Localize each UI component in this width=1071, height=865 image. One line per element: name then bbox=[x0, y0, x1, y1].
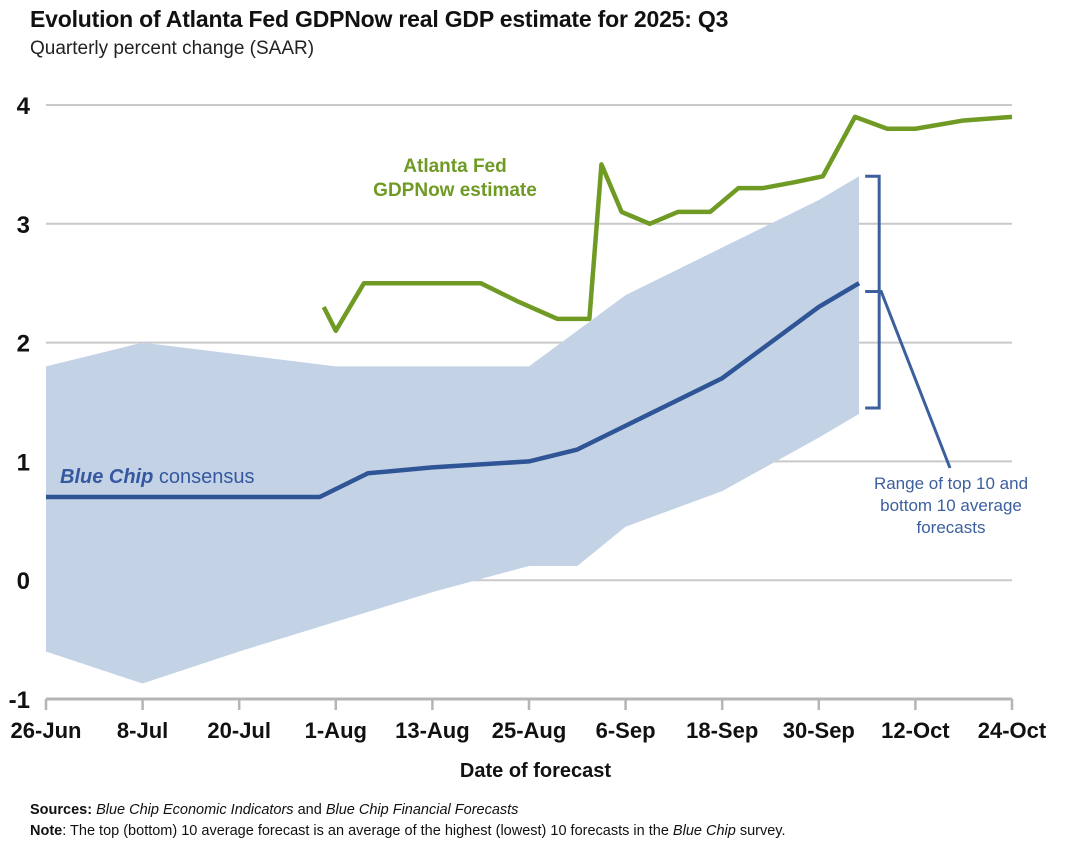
sources-pub-1: Blue Chip Economic Indicators bbox=[96, 802, 293, 818]
sources-line: Sources: Blue Chip Economic Indicators a… bbox=[30, 800, 786, 821]
range-annotation-line1: Range of top 10 and bbox=[846, 473, 1056, 495]
gdpnow-chart: -101234 26-Jun8-Jul20-Jul1-Aug13-Aug25-A… bbox=[0, 0, 1071, 760]
chart-footnotes: Sources: Blue Chip Economic Indicators a… bbox=[30, 800, 786, 842]
y-axis-tick-label: 4 bbox=[17, 93, 31, 120]
x-axis-tick-label: 1-Aug bbox=[305, 718, 367, 743]
consensus-label-italic: Blue Chip bbox=[60, 466, 153, 488]
x-axis-title: Date of forecast bbox=[0, 760, 1071, 783]
y-axis-tick-label: 2 bbox=[17, 331, 30, 358]
x-axis-tick-label: 8-Jul bbox=[117, 718, 168, 743]
range-annotation: Range of top 10 and bottom 10 average fo… bbox=[846, 473, 1056, 539]
range-annotation-line2: bottom 10 average bbox=[846, 495, 1056, 517]
x-axis-tick-label: 26-Jun bbox=[11, 718, 82, 743]
x-axis-tick-label: 6-Sep bbox=[596, 718, 656, 743]
note-label: Note bbox=[30, 823, 62, 839]
forecast-range-band bbox=[46, 176, 859, 683]
x-axis-tick-label: 13-Aug bbox=[395, 718, 470, 743]
range-annotation-line3: forecasts bbox=[846, 517, 1056, 539]
note-part-1: The top (bottom) 10 average forecast is … bbox=[70, 823, 673, 839]
x-axis-labels: 26-Jun8-Jul20-Jul1-Aug13-Aug25-Aug6-Sep1… bbox=[11, 718, 1047, 743]
x-axis-tick-label: 12-Oct bbox=[881, 718, 950, 743]
gdpnow-annotation-line1: Atlanta Fed bbox=[360, 155, 550, 179]
x-axis-tick-label: 24-Oct bbox=[978, 718, 1047, 743]
x-axis-tick-label: 18-Sep bbox=[686, 718, 758, 743]
x-axis-tick-label: 20-Jul bbox=[207, 718, 271, 743]
gdpnow-annotation-line2: GDPNow estimate bbox=[360, 179, 550, 203]
blue-chip-consensus-label: Blue Chip consensus bbox=[60, 466, 255, 489]
consensus-label-rest: consensus bbox=[153, 466, 254, 488]
note-colon: : bbox=[62, 823, 70, 839]
note-line: Note: The top (bottom) 10 average foreca… bbox=[30, 821, 786, 842]
sources-label: Sources: bbox=[30, 802, 92, 818]
sources-and: and bbox=[294, 802, 326, 818]
chart-page: Evolution of Atlanta Fed GDPNow real GDP… bbox=[0, 0, 1071, 865]
x-axis-tick-label: 30-Sep bbox=[783, 718, 855, 743]
forecast-range-polygon bbox=[46, 176, 859, 683]
range-bracket-annotation bbox=[865, 176, 950, 468]
note-part-2: survey. bbox=[736, 823, 786, 839]
y-axis-tick-label: 1 bbox=[17, 449, 30, 476]
gdpnow-series-annotation: Atlanta Fed GDPNow estimate bbox=[360, 155, 550, 203]
axis-group bbox=[46, 699, 1012, 710]
y-axis-labels: -101234 bbox=[9, 93, 31, 714]
sources-pub-2: Blue Chip Financial Forecasts bbox=[326, 802, 519, 818]
x-axis-tick-label: 25-Aug bbox=[492, 718, 567, 743]
y-axis-tick-label: -1 bbox=[9, 687, 30, 714]
y-axis-tick-label: 0 bbox=[17, 568, 30, 595]
y-axis-tick-label: 3 bbox=[17, 212, 30, 239]
note-italic: Blue Chip bbox=[673, 823, 736, 839]
